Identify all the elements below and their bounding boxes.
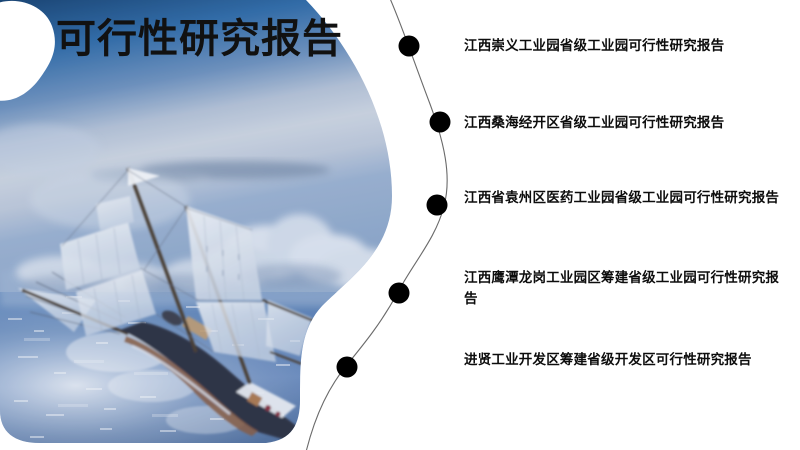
photo-panel — [0, 0, 420, 450]
list-item[interactable]: 进贤工业开发区筹建省级开发区可行性研究报告 — [464, 350, 786, 371]
list-item[interactable]: 江西桑海经开区省级工业园可行性研究报告 — [464, 113, 794, 134]
bullet-dot-2[interactable] — [430, 112, 451, 133]
page-title: 可行性研究报告 — [56, 17, 343, 61]
list-item[interactable]: 江西崇义工业园省级工业园可行性研究报告 — [464, 36, 794, 57]
list-item[interactable]: 江西鹰潭龙岗工业园区筹建省级工业园可行性研究报告 — [464, 268, 786, 310]
list-item[interactable]: 江西省袁州区医药工业园省级工业园可行性研究报告 — [464, 188, 786, 209]
bullet-dot-3[interactable] — [427, 195, 448, 216]
slide-canvas: 可行性研究报告 江西崇义工业园省级工业园可行性研究报告 江西桑海经开区省级工业园… — [0, 0, 800, 450]
